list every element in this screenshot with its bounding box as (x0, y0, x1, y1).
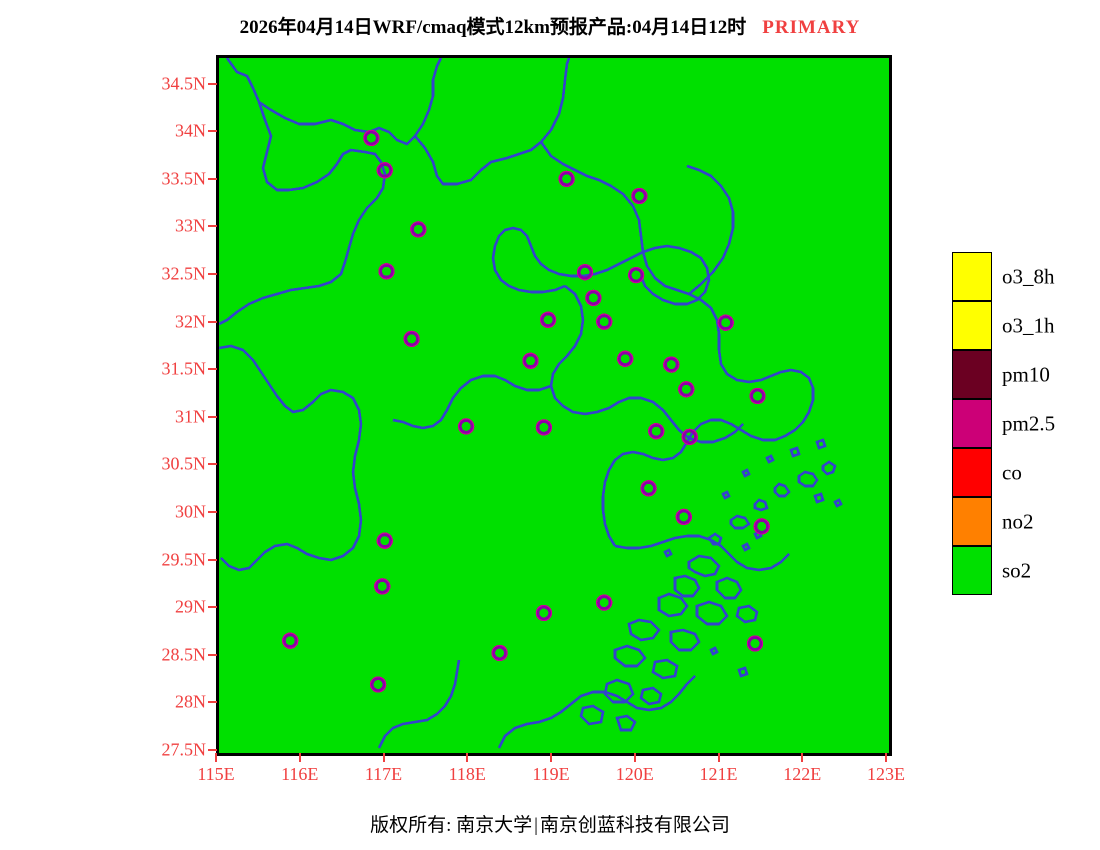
legend-swatch-pm10 (952, 350, 992, 399)
y-axis-tick (208, 83, 217, 85)
y-axis-tick (208, 749, 217, 751)
y-axis-tick (208, 321, 217, 323)
y-axis-tick (208, 463, 217, 465)
y-axis-tick (208, 701, 217, 703)
y-axis-tick-label: 33N (138, 216, 206, 237)
legend-label: co (1002, 460, 1022, 485)
y-axis-tick (208, 130, 217, 132)
x-axis-tick-label: 119E (532, 764, 569, 785)
x-axis-tick-label: 115E (197, 764, 234, 785)
legend-swatch-pm25 (952, 399, 992, 448)
x-axis-tick (634, 753, 636, 762)
x-axis-tick (801, 753, 803, 762)
forecast-map-page: 2026年04月14日WRF/cmaq模式12km预报产品:04月14日12时P… (0, 0, 1100, 850)
legend-item[interactable]: no2 (952, 497, 992, 546)
y-axis-tick-label: 27.5N (138, 740, 206, 761)
x-axis-tick (215, 753, 217, 762)
legend-label: pm2.5 (1002, 411, 1055, 436)
footer-company-text: 南京创蓝科技有限公司 (540, 815, 730, 836)
y-axis-tick-label: 32.5N (138, 263, 206, 284)
y-axis-tick-label: 29N (138, 597, 206, 618)
legend-pollutant-scale[interactable]: o3_8h o3_1h pm10 pm2.5 co no2 so2 (952, 252, 992, 595)
legend-label: o3_8h (1002, 264, 1055, 289)
map-canvas (219, 58, 889, 753)
y-axis-tick (208, 654, 217, 656)
legend-label: so2 (1002, 558, 1031, 583)
x-axis-tick (550, 753, 552, 762)
legend-item[interactable]: co (952, 448, 992, 497)
y-axis-tick (208, 273, 217, 275)
y-axis-tick (208, 178, 217, 180)
x-axis-tick-label: 120E (616, 764, 654, 785)
y-axis-tick-label: 31.5N (138, 359, 206, 380)
legend-label: o3_1h (1002, 313, 1055, 338)
page-title-text: 2026年04月14日WRF/cmaq模式12km预报产品:04月14日12时 (240, 17, 747, 38)
y-axis-tick-label: 30N (138, 501, 206, 522)
legend-item[interactable]: pm10 (952, 350, 992, 399)
y-axis-tick (208, 559, 217, 561)
footer-copyright-text: 版权所有: 南京大学 (370, 815, 532, 836)
page-title: 2026年04月14日WRF/cmaq模式12km预报产品:04月14日12时P… (0, 12, 1100, 39)
y-axis-tick-label: 34N (138, 121, 206, 142)
page-title-primary-badge: PRIMARY (762, 17, 860, 38)
legend-swatch-o3-8h (952, 252, 992, 301)
legend-swatch-no2 (952, 497, 992, 546)
legend-item[interactable]: o3_1h (952, 301, 992, 350)
legend-swatch-so2 (952, 546, 992, 595)
x-axis-tick-label: 116E (281, 764, 318, 785)
legend-swatch-co (952, 448, 992, 497)
legend-swatch-o3-1h (952, 301, 992, 350)
y-axis-tick (208, 368, 217, 370)
x-axis-tick (466, 753, 468, 762)
y-axis-tick-label: 31N (138, 406, 206, 427)
x-axis-tick-label: 122E (783, 764, 821, 785)
x-axis-tick (299, 753, 301, 762)
y-axis-tick-label: 32N (138, 311, 206, 332)
map-fill-so2 (219, 58, 889, 753)
map-plot-area[interactable] (216, 55, 892, 756)
y-axis-tick-label: 28N (138, 692, 206, 713)
y-axis-tick-label: 30.5N (138, 454, 206, 475)
y-axis-tick-label: 29.5N (138, 549, 206, 570)
y-axis-tick (208, 606, 217, 608)
legend-item[interactable]: so2 (952, 546, 992, 595)
x-axis-tick-label: 118E (449, 764, 486, 785)
y-axis-tick (208, 225, 217, 227)
legend-item[interactable]: pm2.5 (952, 399, 992, 448)
y-axis-tick (208, 511, 217, 513)
x-axis-tick-label: 117E (365, 764, 402, 785)
x-axis-tick-label: 123E (867, 764, 905, 785)
footer-separator: | (532, 815, 540, 836)
legend-label: pm10 (1002, 362, 1050, 387)
legend-label: no2 (1002, 509, 1034, 534)
y-axis-tick-label: 33.5N (138, 168, 206, 189)
x-axis-tick (718, 753, 720, 762)
y-axis-tick-label: 28.5N (138, 644, 206, 665)
y-axis-tick (208, 416, 217, 418)
footer-copyright: 版权所有: 南京大学|南京创蓝科技有限公司 (0, 810, 1100, 837)
y-axis-tick-label: 34.5N (138, 73, 206, 94)
x-axis-tick-label: 121E (700, 764, 738, 785)
legend-item[interactable]: o3_8h (952, 252, 992, 301)
x-axis-tick (885, 753, 887, 762)
x-axis-tick (383, 753, 385, 762)
